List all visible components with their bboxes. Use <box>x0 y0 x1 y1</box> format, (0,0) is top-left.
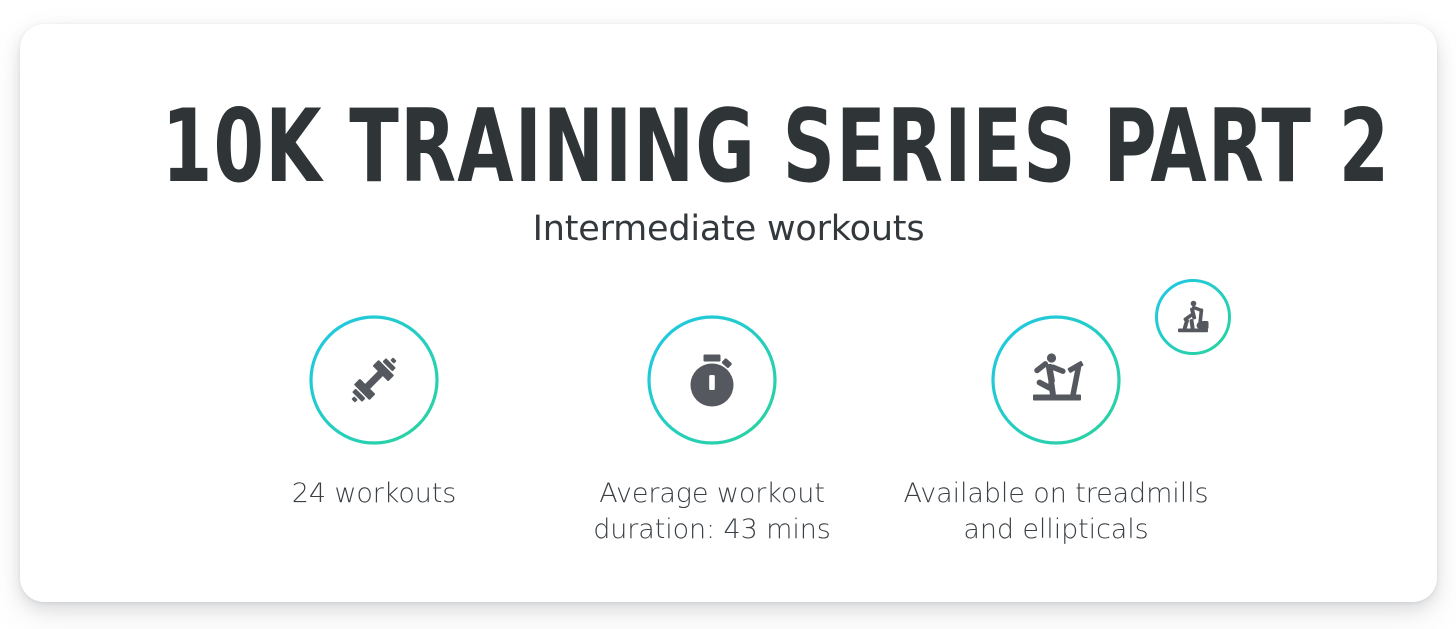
info-card: 10K TRAINING SERIES PART 2 Intermediate … <box>20 24 1437 602</box>
caption-line: duration: 43 mins <box>552 512 872 548</box>
caption-line: and ellipticals <box>896 512 1216 548</box>
page-title: 10K TRAINING SERIES PART 2 <box>162 96 1296 197</box>
icon-circle-duration <box>646 314 778 446</box>
stopwatch-icon <box>646 314 778 446</box>
feature-caption-equipment: Available on treadmills and ellipticals <box>896 476 1216 548</box>
feature-caption-duration: Average workout duration: 43 mins <box>552 476 872 548</box>
feature-item-equipment: Available on treadmills and ellipticals <box>896 314 1216 548</box>
feature-list: 24 workouts <box>20 314 1437 574</box>
caption-line: Average workout <box>552 476 872 512</box>
feature-item-workouts: 24 workouts <box>214 314 534 512</box>
treadmill-icon <box>990 314 1122 446</box>
feature-item-duration: Average workout duration: 43 mins <box>552 314 872 548</box>
caption-line: 24 workouts <box>214 476 534 512</box>
dumbbell-icon <box>308 314 440 446</box>
elliptical-icon <box>1154 278 1232 356</box>
icon-circle-elliptical <box>1154 278 1232 356</box>
page-subtitle: Intermediate workouts <box>20 209 1437 249</box>
caption-line: Available on treadmills <box>896 476 1216 512</box>
feature-caption-workouts: 24 workouts <box>214 476 534 512</box>
icon-circle-equipment <box>990 314 1122 446</box>
icon-circle-workouts <box>308 314 440 446</box>
infographic-card-page: 10K TRAINING SERIES PART 2 Intermediate … <box>0 0 1456 629</box>
